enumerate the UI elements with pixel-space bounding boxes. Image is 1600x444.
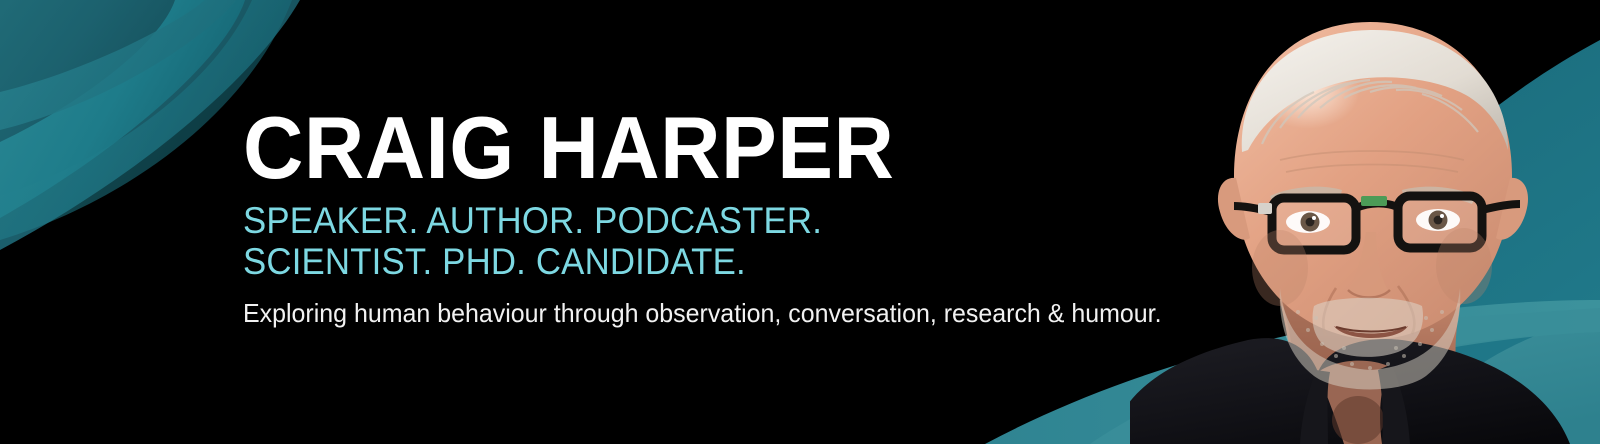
portrait-photo (1130, 0, 1600, 444)
subtitle-line-1: SPEAKER. AUTHOR. PODCASTER. (243, 201, 1089, 242)
hero-text-block: CRAIG HARPER SPEAKER. AUTHOR. PODCASTER.… (243, 108, 1143, 330)
subtitle-group: SPEAKER. AUTHOR. PODCASTER. SCIENTIST. P… (243, 201, 1143, 282)
cheek-shadow-right (1436, 228, 1492, 304)
frame-green-accent-icon (1361, 196, 1387, 206)
cheek-shadow-left (1252, 230, 1308, 306)
page-title: CRAIG HARPER (243, 108, 1098, 189)
portrait-illustration (1130, 0, 1600, 444)
frame-hinge-detail (1258, 203, 1272, 214)
tagline: Exploring human behaviour through observ… (243, 298, 1107, 329)
hero-banner: CRAIG HARPER SPEAKER. AUTHOR. PODCASTER.… (0, 0, 1600, 444)
subtitle-line-2: SCIENTIST. PHD. CANDIDATE. (243, 242, 1089, 283)
chest-detail (1332, 396, 1384, 444)
